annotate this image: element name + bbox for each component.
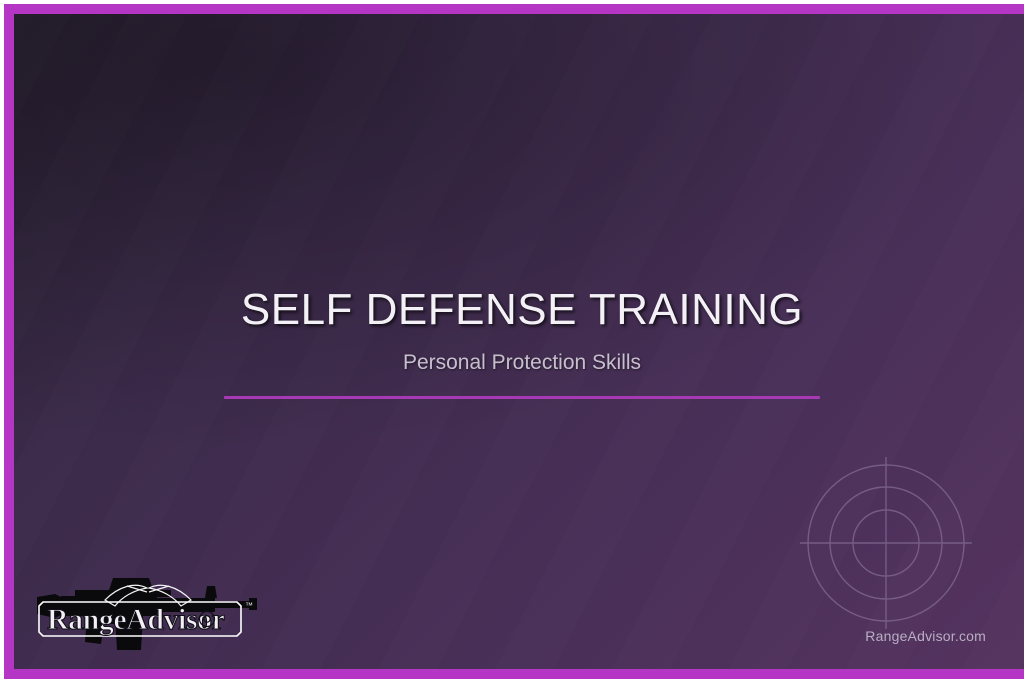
title-block: SELF DEFENSE TRAINING Personal Protectio… (14, 286, 1024, 399)
footer-website-url: RangeAdvisor.com (865, 628, 986, 644)
trademark-symbol: ™ (245, 601, 253, 610)
brand-wordmark: RangeAdvisor (47, 603, 225, 636)
brand-logo: RangeAdvisor ™ (31, 566, 263, 652)
slide-frame: SELF DEFENSE TRAINING Personal Protectio… (0, 0, 1024, 683)
page-subtitle: Personal Protection Skills (14, 350, 1024, 375)
title-underline-divider (224, 396, 820, 399)
crosshair-target-icon (800, 457, 972, 629)
page-title: SELF DEFENSE TRAINING (14, 286, 1024, 334)
slide-canvas: SELF DEFENSE TRAINING Personal Protectio… (14, 14, 1024, 669)
